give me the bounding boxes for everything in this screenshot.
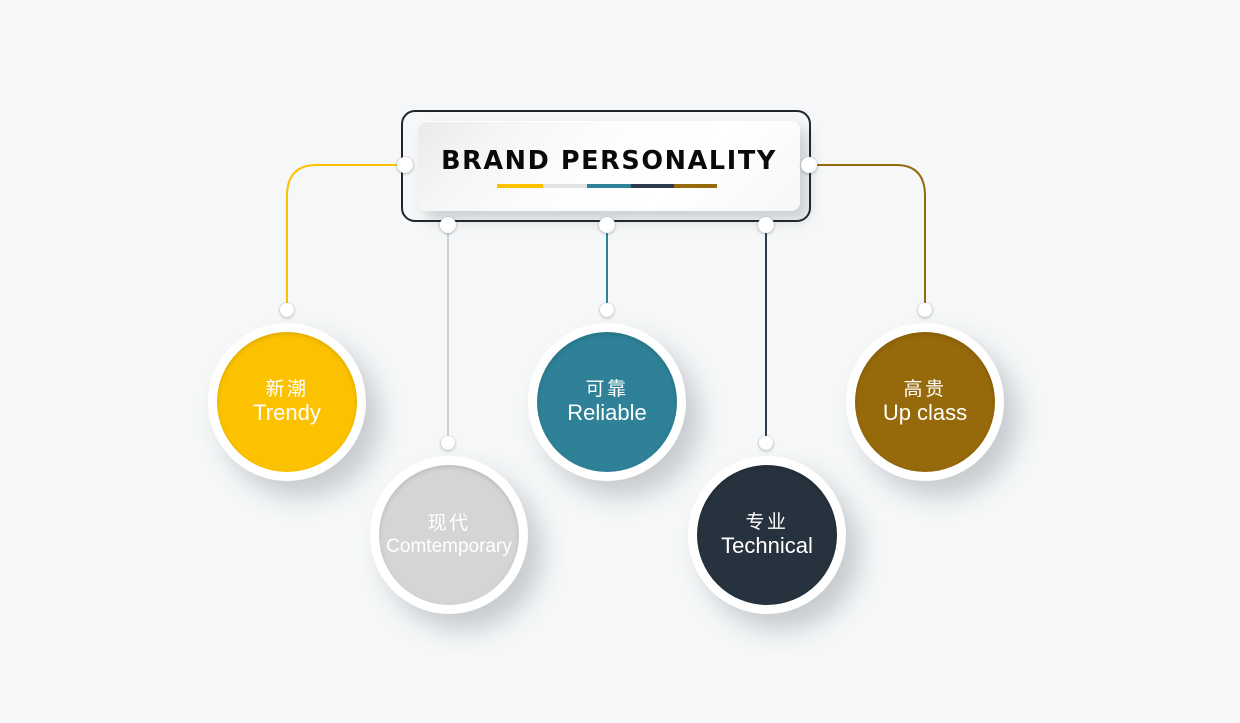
node-disc-trendy [217, 332, 357, 472]
node-disc-reliable [537, 332, 677, 472]
dot-header-b2 [599, 217, 615, 233]
node-comtemporary[interactable]: 现代Comtemporary [370, 456, 528, 614]
dot-header-left [397, 157, 413, 173]
dot-header-b3 [758, 217, 774, 233]
rule-segment-upclass [674, 184, 717, 188]
dot-comtemp-end [441, 436, 455, 450]
dot-header-b1 [440, 217, 456, 233]
node-trendy[interactable]: 新潮Trendy [208, 323, 366, 481]
dot-upclass-end [918, 303, 932, 317]
node-disc-upclass [855, 332, 995, 472]
infographic-canvas: BRAND PERSONALITY 新潮Trendy现代Comtemporary… [0, 0, 1240, 723]
node-upclass[interactable]: 高贵Up class [846, 323, 1004, 481]
page-title: BRAND PERSONALITY [418, 146, 800, 176]
trendy-wire [287, 165, 405, 308]
rule-segment-technical [631, 184, 674, 188]
dot-reliable-end [600, 303, 614, 317]
node-technical[interactable]: 专业Technical [688, 456, 846, 614]
rule-segment-comtemporary [543, 184, 587, 188]
node-reliable[interactable]: 可靠Reliable [528, 323, 686, 481]
header-rule [497, 184, 717, 188]
rule-segment-trendy [497, 184, 543, 188]
rule-segment-reliable [587, 184, 631, 188]
dot-technical-end [759, 436, 773, 450]
dot-header-right [801, 157, 817, 173]
node-disc-comtemporary [379, 465, 519, 605]
node-disc-technical [697, 465, 837, 605]
dot-trendy-end [280, 303, 294, 317]
upclass-wire [808, 165, 925, 308]
